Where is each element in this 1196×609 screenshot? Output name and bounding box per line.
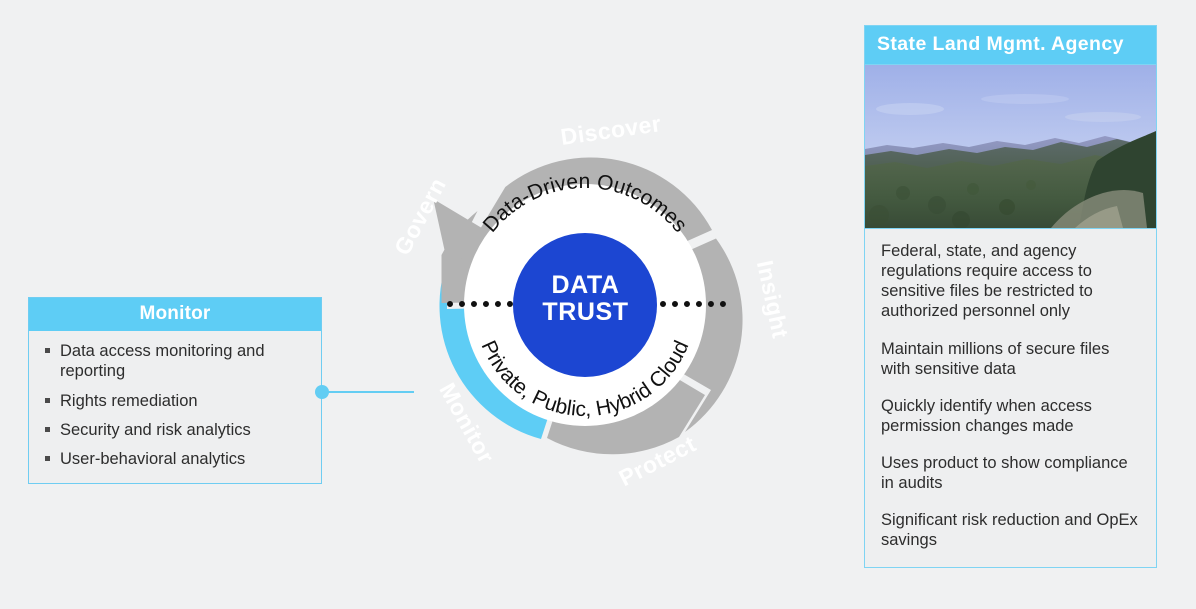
list-item: Rights remediation bbox=[43, 391, 309, 411]
list-item-label: Rights remediation bbox=[60, 392, 198, 410]
case-panel-title: State Land Mgmt. Agency bbox=[865, 26, 1156, 64]
wheel-core-circle bbox=[513, 233, 657, 377]
bullet-square-icon bbox=[45, 456, 50, 461]
list-item-label: User-behavioral analytics bbox=[60, 450, 245, 468]
data-trust-wheel: Data-Driven Outcomes Private, Public, Hy… bbox=[355, 75, 815, 535]
list-item: Data access monitoring and reporting bbox=[43, 341, 309, 382]
list-item: Quickly identify when access permission … bbox=[881, 396, 1143, 436]
case-study-panel: State Land Mgmt. Agency bbox=[864, 25, 1157, 568]
callout-connector-dot bbox=[315, 385, 329, 399]
bullet-square-icon bbox=[45, 427, 50, 432]
list-item: Security and risk analytics bbox=[43, 420, 309, 440]
bullet-square-icon bbox=[45, 348, 50, 353]
monitor-panel-title: Monitor bbox=[29, 298, 321, 331]
list-item: Federal, state, and agency regulations r… bbox=[881, 241, 1143, 322]
monitor-detail-panel: Monitor Data access monitoring and repor… bbox=[28, 297, 322, 484]
bullet-square-icon bbox=[45, 398, 50, 403]
list-item-label: Security and risk analytics bbox=[60, 421, 251, 439]
list-item-label: Data access monitoring and reporting bbox=[60, 342, 265, 380]
list-item: Significant risk reduction and OpEx savi… bbox=[881, 510, 1143, 550]
list-item: Uses product to show compliance in audit… bbox=[881, 453, 1143, 493]
divider-dashed-right bbox=[660, 301, 726, 307]
list-item: User-behavioral analytics bbox=[43, 449, 309, 469]
wheel-label-discover: Discover bbox=[559, 110, 663, 150]
monitor-panel-list: Data access monitoring and reporting Rig… bbox=[29, 331, 321, 483]
landscape-photo bbox=[865, 64, 1156, 229]
list-item: Maintain millions of secure files with s… bbox=[881, 339, 1143, 379]
diagram-canvas: Monitor Data access monitoring and repor… bbox=[0, 0, 1196, 609]
divider-dashed-left bbox=[447, 301, 513, 307]
wheel-label-insight: Insight bbox=[752, 258, 794, 341]
case-panel-list: Federal, state, and agency regulations r… bbox=[865, 229, 1156, 567]
